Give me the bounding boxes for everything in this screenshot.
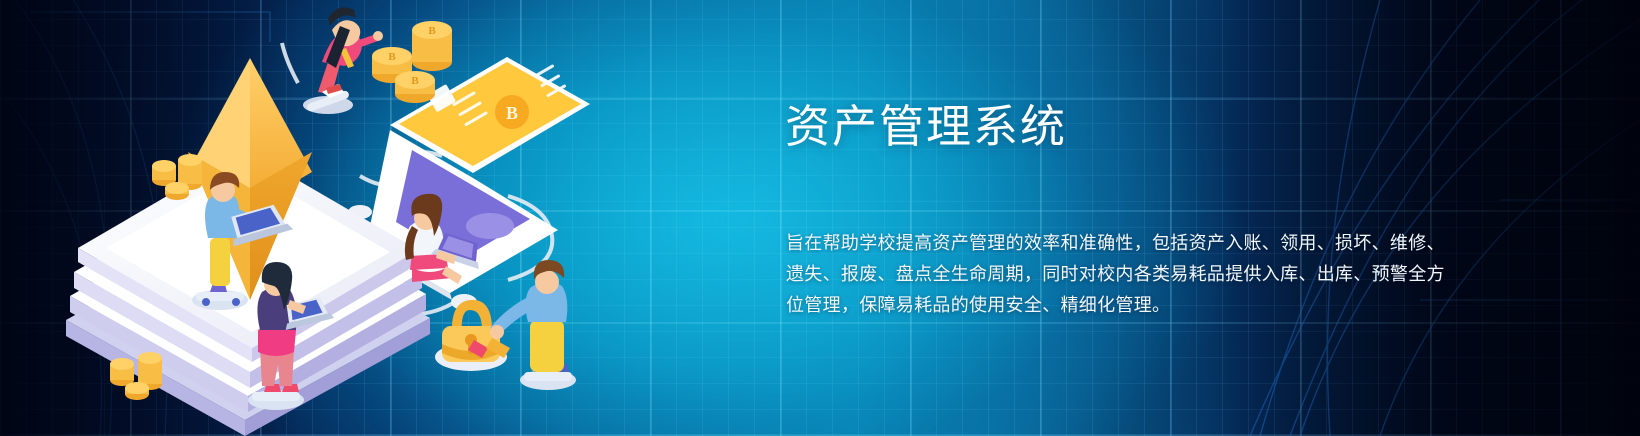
svg-text:B: B xyxy=(506,103,518,123)
hero-banner: B xyxy=(0,0,1640,436)
svg-text:B: B xyxy=(388,51,396,63)
page-description: 旨在帮助学校提高资产管理的效率和准确性，包括资产入账、领用、损坏、维修、遗失、报… xyxy=(786,228,1454,321)
page-title: 资产管理系统 xyxy=(785,99,1067,155)
person-skateboard-illustration xyxy=(303,7,383,114)
hero-illustration: B xyxy=(60,0,620,436)
svg-text:B: B xyxy=(428,25,436,37)
hero-copy: 资产管理系统 旨在帮助学校提高资产管理的效率和准确性，包括资产入账、领用、损坏、… xyxy=(785,0,1485,436)
person-key-illustration xyxy=(486,260,576,390)
svg-text:B: B xyxy=(411,75,419,87)
